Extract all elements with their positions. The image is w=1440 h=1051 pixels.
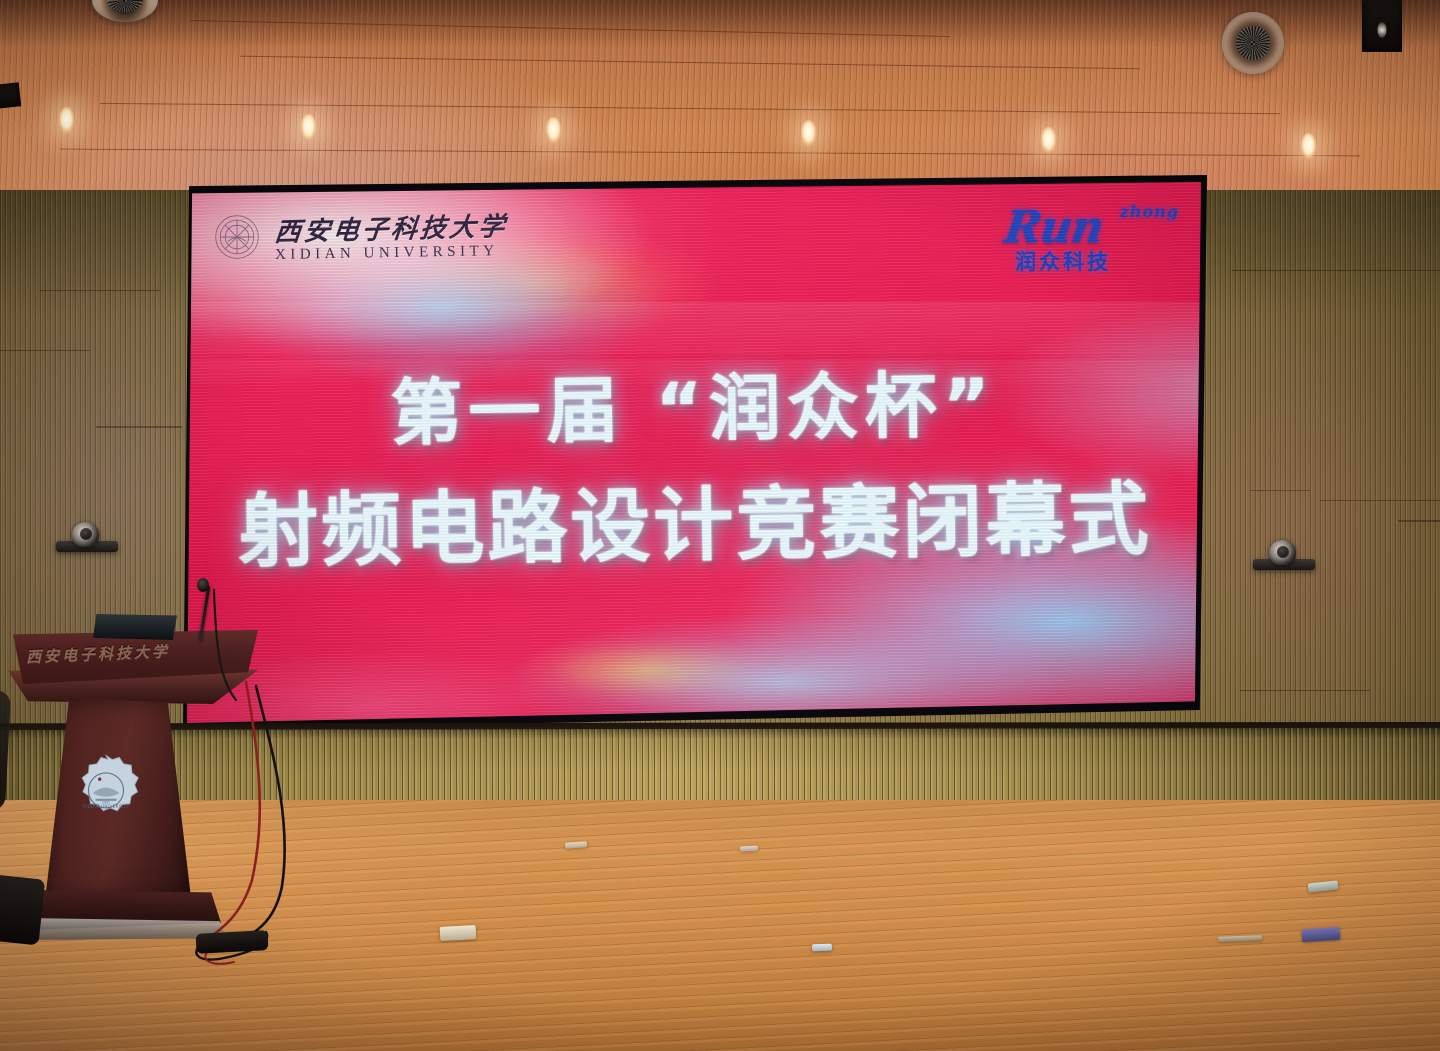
ptz-camera-icon xyxy=(56,522,118,556)
ceiling-downlight xyxy=(300,114,317,141)
lectern[interactable]: 西安电子科技大学 XIDIAN UNIVERSITY 1931 xyxy=(8,612,258,942)
ceiling-downlight xyxy=(800,120,817,147)
sponsor-superscript: zhong xyxy=(1120,202,1179,221)
cable-bundle xyxy=(196,930,269,954)
ptz-camera-icon xyxy=(1253,540,1315,574)
ceiling-downlight xyxy=(545,117,562,144)
lectern-plinth xyxy=(18,918,226,940)
ceiling-fixture xyxy=(1362,0,1402,52)
ceiling-downlight xyxy=(58,107,75,134)
university-name-block: 西安电子科技大学 XIDIAN UNIVERSITY xyxy=(275,213,507,261)
svg-text:XIDIAN UNIVERSITY: XIDIAN UNIVERSITY xyxy=(83,804,130,809)
svg-text:1931: 1931 xyxy=(102,800,110,804)
auditorium-photo: 西安电子科技大学 XIDIAN UNIVERSITY Run zhong 润众科… xyxy=(0,0,1440,1051)
fixture-lamp xyxy=(1378,22,1387,38)
screen-title-line-2: 射频电路设计竞赛闭幕式 xyxy=(238,455,1153,584)
ceiling-downlight xyxy=(1040,127,1057,154)
ceiling-fixture xyxy=(0,82,21,109)
foreground-object xyxy=(0,873,45,946)
university-name-en: XIDIAN UNIVERSITY xyxy=(275,244,507,263)
university-name-cn: 西安电子科技大学 xyxy=(273,214,508,246)
camera-lens xyxy=(80,528,92,540)
floor-object xyxy=(1302,927,1341,943)
led-screen[interactable]: 西安电子科技大学 XIDIAN UNIVERSITY Run zhong 润众科… xyxy=(187,182,1201,723)
sponsor-name-cn: 润众科技 xyxy=(1015,246,1111,276)
screen-title-block: 第一届 “润众杯” 射频电路设计竞赛闭幕式 xyxy=(187,343,1201,584)
microphone-icon[interactable] xyxy=(197,578,209,592)
floor-object xyxy=(740,846,758,852)
floor-object xyxy=(440,925,477,941)
presenter-laptop[interactable] xyxy=(93,614,177,640)
xidian-seal-badge-icon: XIDIAN UNIVERSITY 1931 xyxy=(71,754,141,824)
screen-title-line-1: 第一届 “润众杯” xyxy=(390,346,997,459)
ceiling-downlight xyxy=(1300,133,1317,160)
university-logo: 西安电子科技大学 XIDIAN UNIVERSITY xyxy=(209,200,509,274)
camera-lens xyxy=(1277,546,1289,558)
xidian-seal-icon xyxy=(209,209,265,265)
floor-object xyxy=(812,944,832,952)
ceiling-vent xyxy=(1222,12,1284,74)
sponsor-logo: Run zhong 润众科技 xyxy=(1005,196,1183,272)
